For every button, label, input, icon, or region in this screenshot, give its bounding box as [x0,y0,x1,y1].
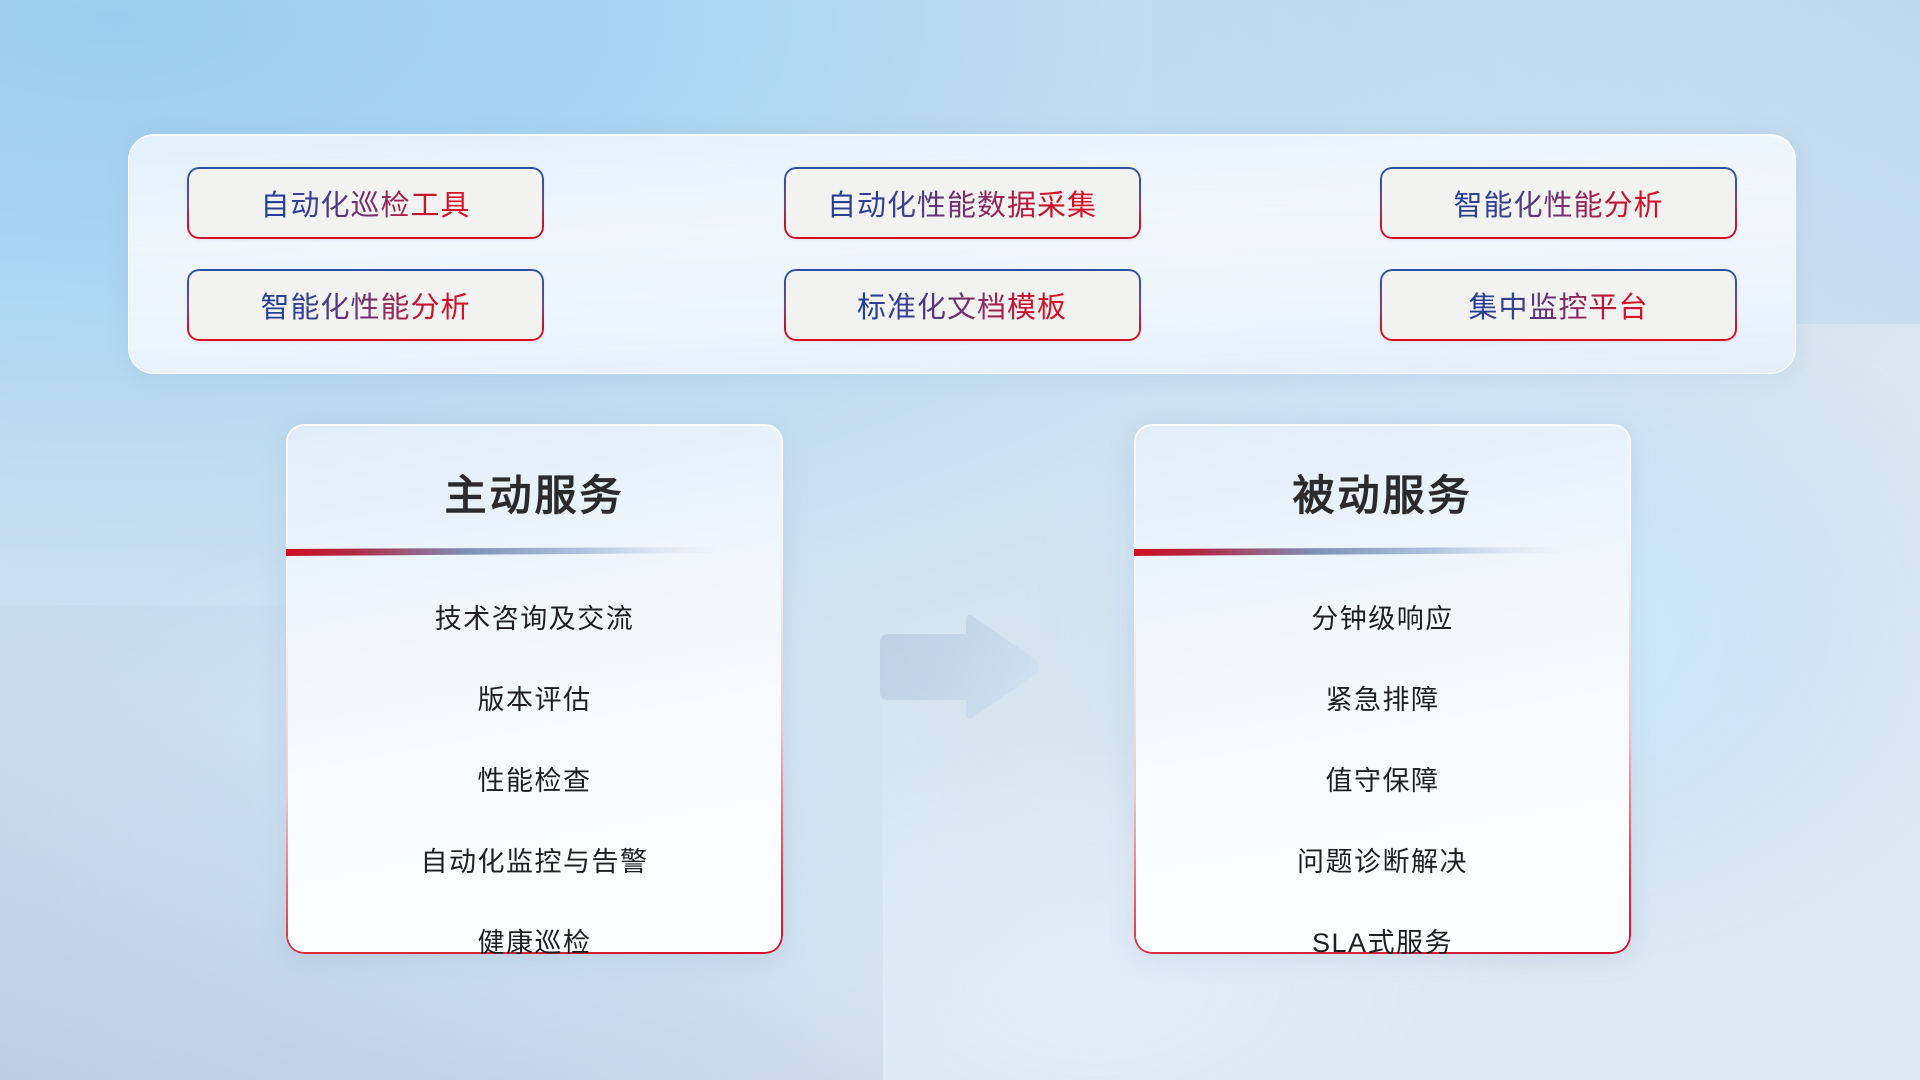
list-item[interactable]: 健康巡检 [286,921,783,954]
right-arrow-icon [870,612,1042,722]
capability-pill-label: 自动化巡检工具 [260,182,470,224]
capability-pill-label: 标准化文档模板 [857,284,1067,326]
capability-row-2: 智能化性能分析 标准化文档模板 集中监控平台 [187,269,1737,341]
list-item[interactable]: 技术咨询及交流 [286,597,783,636]
card-item-list: 分钟级响应 紧急排障 值守保障 问题诊断解决 SLA式服务 [1134,597,1631,954]
capability-pill-automated-inspection-tool[interactable]: 自动化巡检工具 [187,167,544,239]
list-item[interactable]: SLA式服务 [1134,921,1631,954]
capability-row-1: 自动化巡检工具 自动化性能数据采集 智能化性能分析 [187,167,1737,239]
list-item[interactable]: 值守保障 [1134,759,1631,798]
list-item[interactable]: 紧急排障 [1134,678,1631,717]
list-item[interactable]: 自动化监控与告警 [286,840,783,879]
card-item-list: 技术咨询及交流 版本评估 性能检查 自动化监控与告警 健康巡检 [286,597,783,954]
list-item[interactable]: 版本评估 [286,678,783,717]
service-card-active: 主动服务 技术咨询及交流 版本评估 性能检查 自动化监控与告警 健康巡检 [286,424,783,954]
card-title: 主动服务 [286,462,783,523]
list-item[interactable]: 性能检查 [286,759,783,798]
card-title: 被动服务 [1134,462,1631,523]
card-title-underline [1134,547,1562,556]
list-item[interactable]: 分钟级响应 [1134,597,1631,636]
capability-pill-label: 集中监控平台 [1468,284,1648,326]
card-title-underline [286,547,714,556]
capability-pill-intelligent-performance-analysis[interactable]: 智能化性能分析 [1380,167,1737,239]
capability-pill-centralized-monitoring-platform[interactable]: 集中监控平台 [1380,269,1737,341]
capability-pill-label: 智能化性能分析 [1453,182,1663,224]
capability-pill-standardized-document-template[interactable]: 标准化文档模板 [784,269,1141,341]
capability-pill-label: 自动化性能数据采集 [827,182,1097,224]
service-card-passive: 被动服务 分钟级响应 紧急排障 值守保障 问题诊断解决 SLA式服务 [1134,424,1631,954]
capability-pill-label: 智能化性能分析 [260,284,470,326]
list-item[interactable]: 问题诊断解决 [1134,840,1631,879]
capability-panel: 自动化巡检工具 自动化性能数据采集 智能化性能分析 智能化性能分析 标准化文档模… [128,134,1796,374]
capability-pill-intelligent-performance-analysis-2[interactable]: 智能化性能分析 [187,269,544,341]
capability-pill-automated-performance-data-collection[interactable]: 自动化性能数据采集 [784,167,1141,239]
